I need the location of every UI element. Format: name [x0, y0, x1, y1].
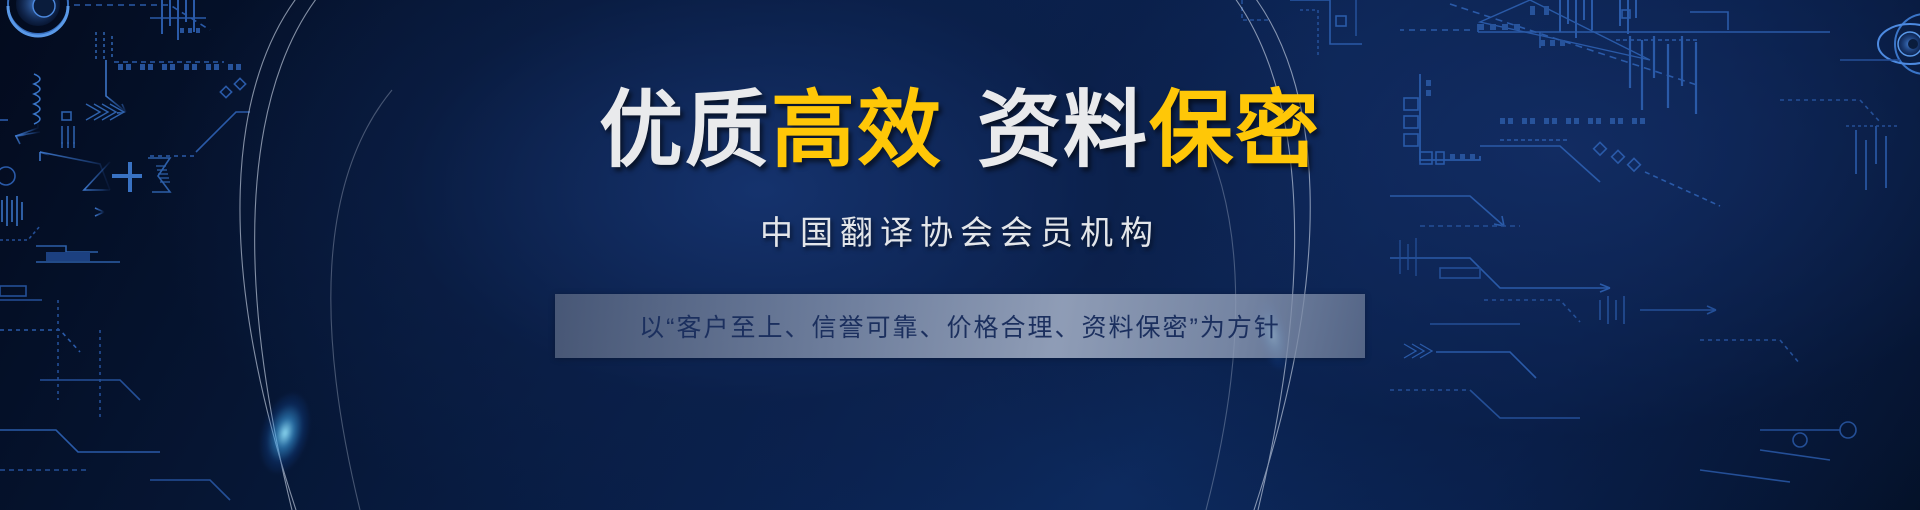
headline-segment-2: 高效 [771, 83, 943, 177]
banner-subtitle: 中国翻译协会会员机构 [760, 206, 1160, 254]
headline-segment-1: 优质 [599, 83, 771, 177]
headline-segment-4: 保密 [1149, 83, 1321, 177]
banner-headline: 优质高效资料保密 [599, 88, 1321, 172]
slogan-text: 以“客户至上、信誉可靠、价格合理、资料保密”为方针 [639, 308, 1281, 344]
slogan-bar: 以“客户至上、信誉可靠、价格合理、资料保密”为方针 [555, 294, 1365, 358]
banner-content: 优质高效资料保密 中国翻译协会会员机构 以“客户至上、信誉可靠、价格合理、资料保… [0, 0, 1920, 510]
headline-segment-3: 资料 [977, 83, 1149, 177]
hero-banner: 优质高效资料保密 中国翻译协会会员机构 以“客户至上、信誉可靠、价格合理、资料保… [0, 0, 1920, 510]
